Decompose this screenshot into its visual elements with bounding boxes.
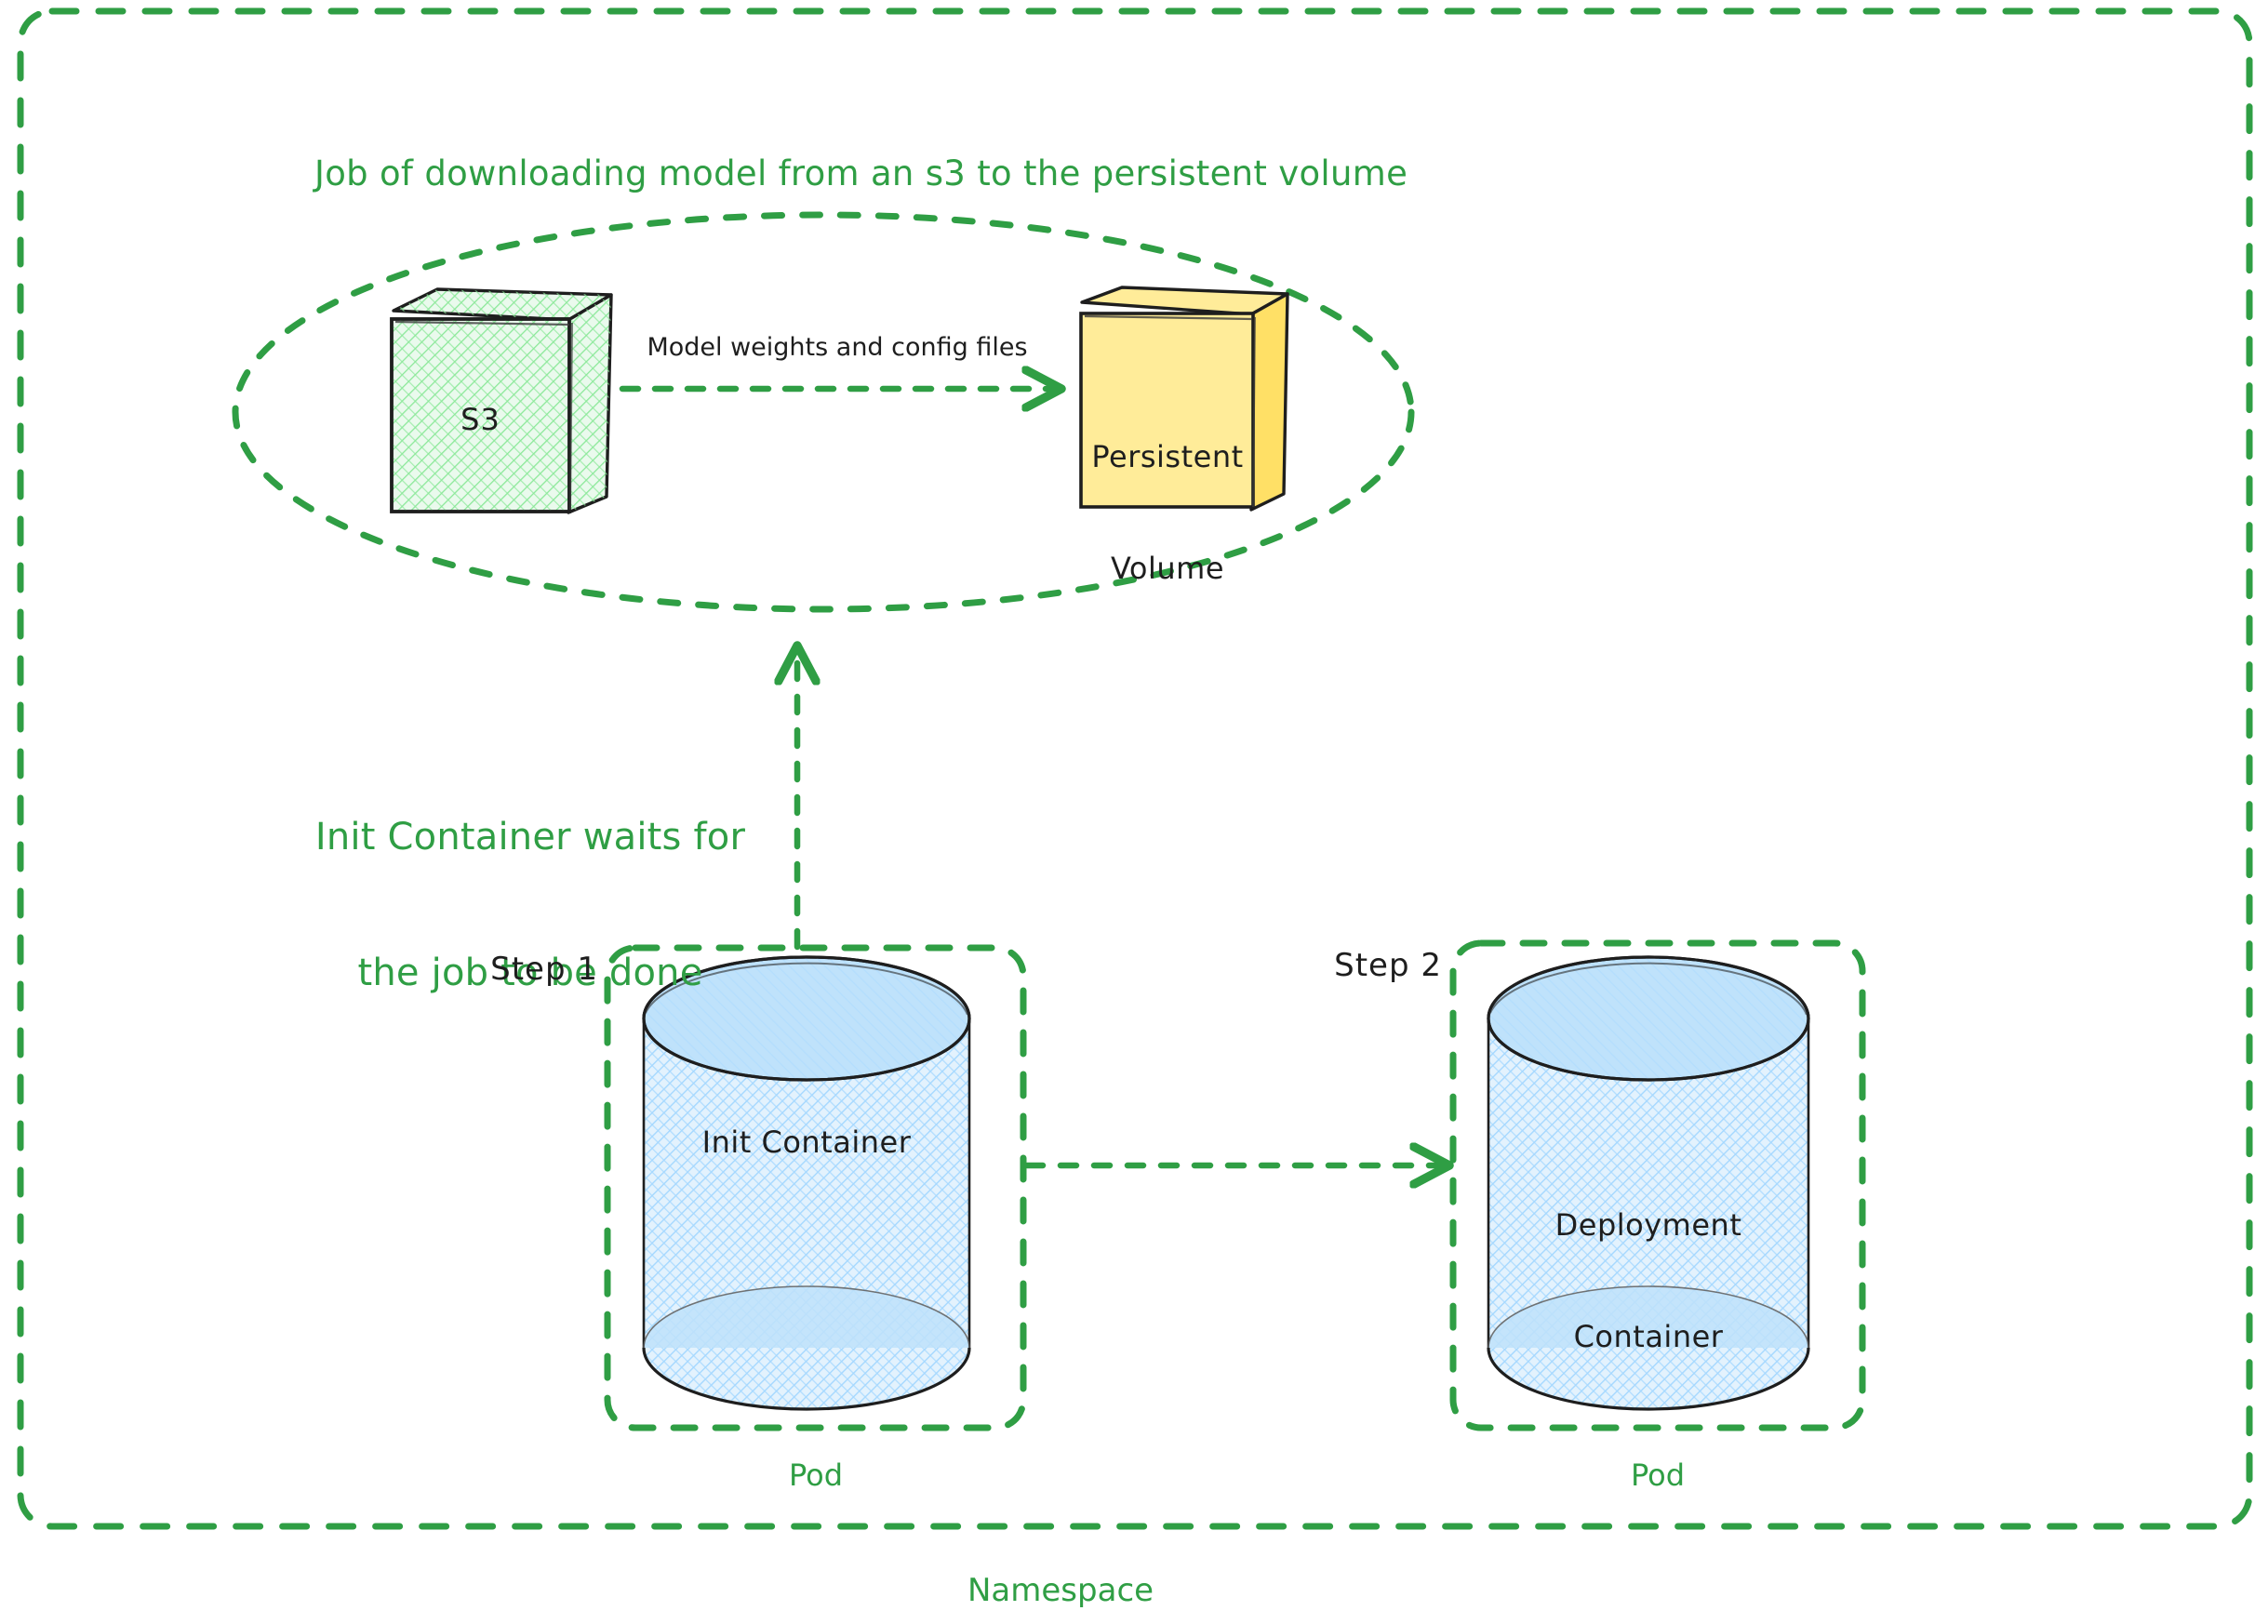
s3-cube-label: S3 [392,402,569,438]
deployment-container-label: Deployment Container [1488,1132,1808,1430]
step-1-label: Step 1 [477,951,598,989]
job-group-title: Job of downloading model from an s3 to t… [314,153,1356,194]
init-container-label: Init Container [644,1124,969,1161]
edge-s3-to-pv-label: Model weights and config files [637,333,1037,364]
diagram-canvas: Job of downloading model from an s3 to t… [0,0,2268,1624]
edge-pod1-to-job-label: Init Container waits for the job to be d… [279,724,781,1086]
deployment-container-label-line-2: Container [1488,1318,1808,1355]
persistent-volume-label-line-2: Volume [1065,550,1270,587]
pod-1-label: Pod [704,1458,927,1494]
wait-note-line-1: Init Container waits for [279,815,781,860]
persistent-volume-label-line-1: Persistent [1065,438,1270,475]
deployment-container-label-line-1: Deployment [1488,1206,1808,1244]
step-2-label: Step 2 [1321,947,1442,985]
persistent-volume-cube-label: Persistent Volume [1065,364,1270,661]
pod-2-label: Pod [1546,1458,1769,1494]
s3-cube-shape [392,289,611,512]
namespace-label: Namespace [967,1572,1302,1610]
